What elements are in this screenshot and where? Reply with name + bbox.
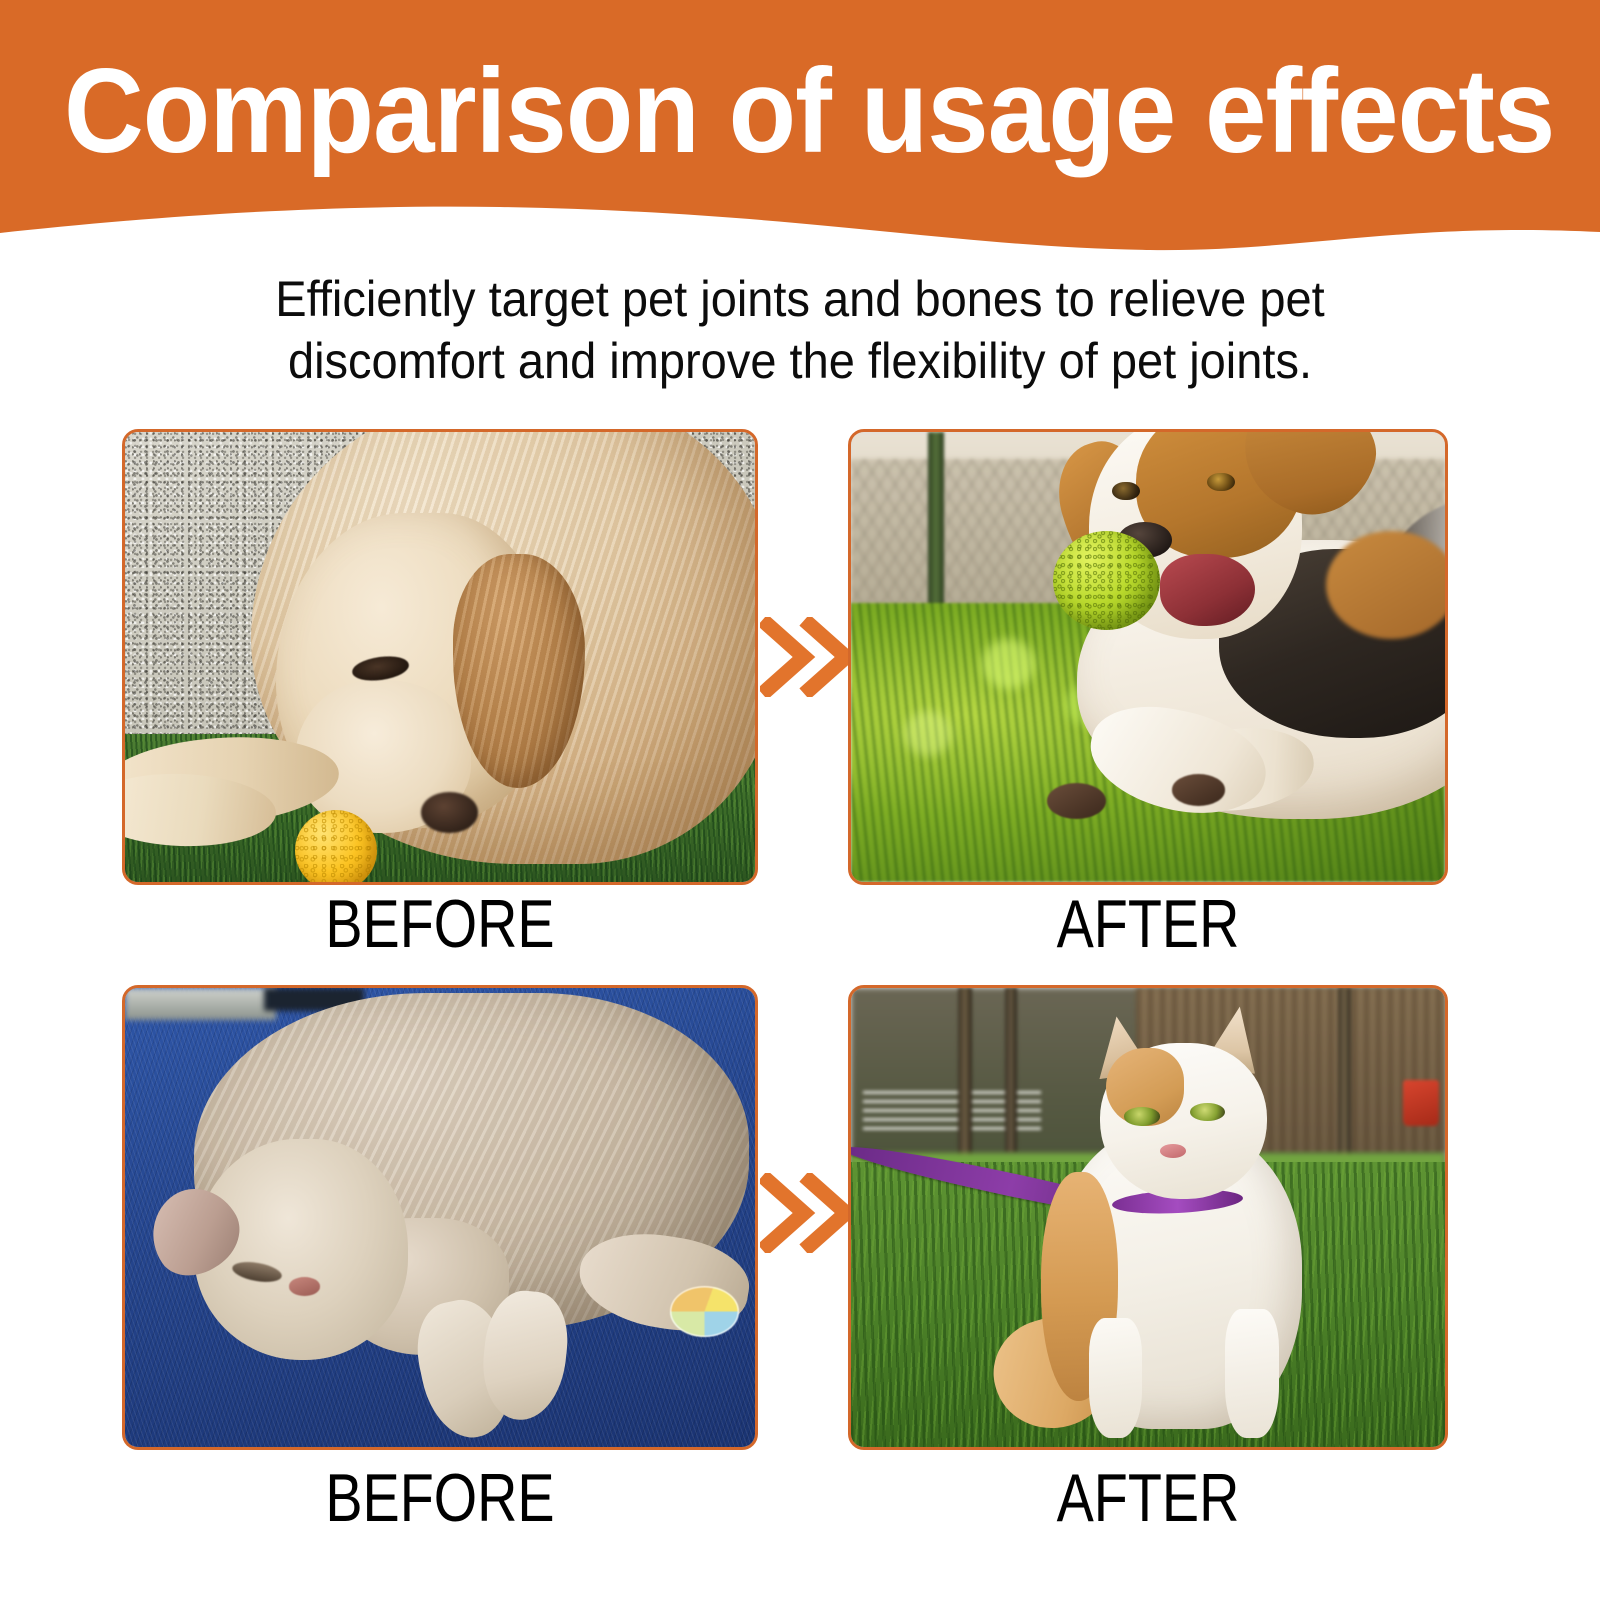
subtitle-text: Efficiently target pet joints and bones … [198, 268, 1401, 392]
cat-right-eye [1190, 1103, 1226, 1121]
double-chevron-right-icon [760, 1173, 858, 1253]
cat-front-leg-left [1089, 1318, 1142, 1437]
arrow-dog-comparison [760, 617, 858, 697]
photo-before-cat [122, 985, 758, 1450]
caption-after-cat: AFTER [902, 1462, 1394, 1534]
photo-before-dog [122, 429, 758, 885]
dog-nose [421, 792, 478, 833]
cat-nose [289, 1277, 321, 1295]
caption-before-cat: BEFORE [179, 1462, 701, 1534]
caption-after-dog: AFTER [902, 888, 1394, 960]
header-banner: Comparison of usage effects [0, 0, 1600, 260]
scene-cat-on-lawn [851, 988, 1445, 1447]
tree-trunk [958, 988, 972, 1172]
double-chevron-right-icon [760, 617, 858, 697]
cat-nose [1160, 1144, 1186, 1158]
bokeh-highlight [982, 639, 1035, 689]
beagle-right-eye [1207, 473, 1234, 492]
beagle-tan-marking [1326, 531, 1445, 639]
background-highlight [125, 988, 276, 1020]
round-tag [670, 1286, 739, 1336]
cat-front-leg-right [1225, 1309, 1278, 1438]
green-spiky-ball [1053, 531, 1160, 630]
beagle-left-eye [1112, 482, 1139, 501]
infographic-page: Comparison of usage effects Efficiently … [0, 0, 1600, 1600]
tree-trunk [1338, 988, 1351, 1162]
yellow-spiky-ball [295, 810, 377, 882]
beagle-paw [1172, 774, 1225, 806]
scene-beagle-running [851, 432, 1445, 882]
photo-after-dog [848, 429, 1448, 885]
bokeh-highlight [904, 711, 952, 756]
tree-trunk [1005, 988, 1017, 1153]
scene-golden-retriever [125, 432, 755, 882]
beagle-open-mouth [1160, 554, 1255, 626]
page-title: Comparison of usage effects [64, 52, 1536, 170]
scene-sleeping-cat [125, 988, 755, 1447]
photo-after-cat [848, 985, 1448, 1450]
cat-left-eye [1124, 1107, 1160, 1125]
caption-before-dog: BEFORE [179, 888, 701, 960]
red-bucket [1403, 1080, 1439, 1126]
beagle-paw [1047, 783, 1106, 819]
fence-post [928, 432, 943, 621]
arrow-cat-comparison [760, 1173, 858, 1253]
